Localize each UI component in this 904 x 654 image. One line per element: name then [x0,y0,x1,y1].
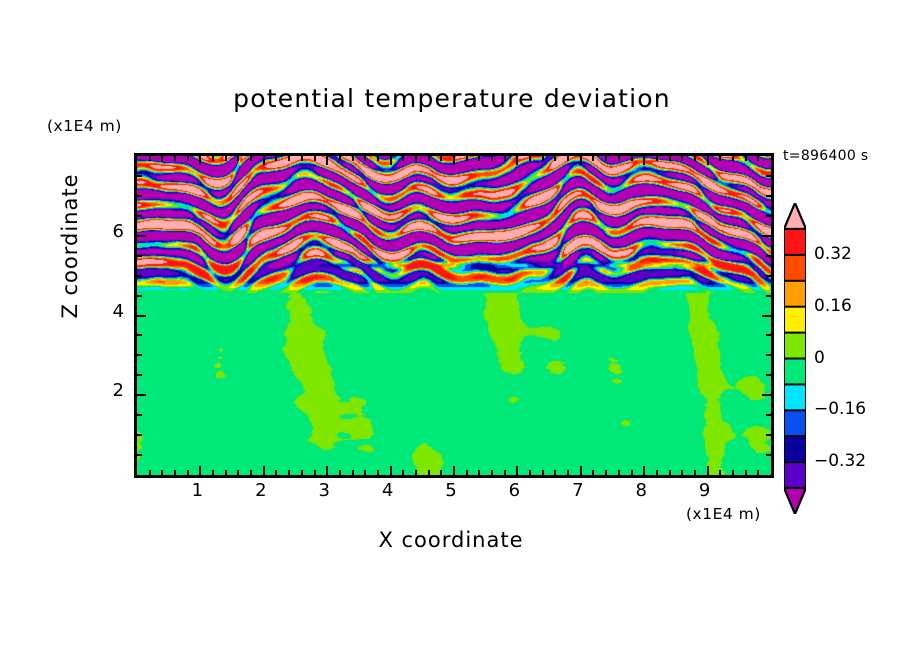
tick-mark [766,334,771,336]
tick-mark [618,470,620,475]
tick-mark [390,466,392,475]
tick-mark [199,156,201,165]
tick-mark [580,156,582,165]
tick-mark [567,470,569,475]
tick-mark [529,156,531,161]
tick-mark [529,470,531,475]
x-axis-title: X coordinate [134,528,768,552]
x-tick-label: 2 [241,480,281,501]
tick-mark [732,470,734,475]
tick-mark [643,156,645,165]
colorbar-tick-label: 0.16 [814,296,852,316]
x-tick-label: 8 [621,480,661,501]
y-tick-label: 6 [84,221,124,242]
tick-mark [656,156,658,161]
tick-mark [137,315,146,317]
tick-mark [757,470,759,475]
tick-mark [137,354,142,356]
tick-mark [212,156,214,161]
tick-mark [592,156,594,161]
tick-mark [137,195,142,197]
colorbar-tick-label: 0 [814,348,825,368]
tick-mark [377,470,379,475]
tick-mark [288,470,290,475]
tick-mark [453,156,455,165]
tick-mark [137,255,142,257]
tick-mark [757,156,759,161]
tick-mark [766,195,771,197]
tick-mark [694,470,696,475]
tick-mark [766,275,771,277]
tick-mark [732,156,734,161]
tick-mark [766,414,771,416]
x-tick-label: 5 [431,480,471,501]
tick-mark [275,470,277,475]
tick-mark [618,156,620,161]
tick-mark [762,315,771,317]
tick-mark [516,466,518,475]
x-tick-label: 3 [304,480,344,501]
tick-mark [288,156,290,161]
x-tick-label: 1 [177,480,217,501]
tick-mark [225,470,227,475]
tick-mark [137,175,142,177]
tick-mark [352,156,354,161]
tick-mark [326,466,328,475]
tick-mark [364,156,366,161]
tick-mark [174,470,176,475]
tick-mark [766,255,771,257]
tick-mark [719,156,721,161]
tick-mark [542,470,544,475]
tick-mark [766,374,771,376]
tick-mark [745,470,747,475]
tick-mark [766,175,771,177]
tick-mark [694,156,696,161]
tick-mark [174,156,176,161]
tick-mark [137,275,142,277]
tick-mark [631,470,633,475]
tick-mark [161,470,163,475]
tick-mark [187,470,189,475]
tick-mark [364,470,366,475]
tick-mark [250,156,252,161]
tick-mark [554,156,556,161]
tick-mark [592,470,594,475]
tick-mark [643,466,645,475]
colorbar-swatches [784,203,806,514]
tick-mark [161,156,163,161]
tick-mark [766,295,771,297]
tick-mark [631,156,633,161]
tick-mark [554,470,556,475]
contour-plot-area [134,153,774,478]
tick-mark [415,470,417,475]
tick-mark [301,156,303,161]
tick-mark [466,470,468,475]
tick-mark [137,434,142,436]
tick-mark [352,470,354,475]
tick-mark [580,466,582,475]
tick-mark [187,156,189,161]
tick-mark [762,394,771,396]
tick-mark [762,235,771,237]
x-tick-label: 9 [685,480,725,501]
tick-mark [428,156,430,161]
colorbar [784,203,806,514]
tick-mark [453,466,455,475]
tick-mark [225,156,227,161]
tick-mark [237,470,239,475]
tick-mark [237,156,239,161]
x-tick-label: 4 [368,480,408,501]
tick-mark [516,156,518,165]
tick-mark [466,156,468,161]
tick-mark [250,470,252,475]
tick-mark [766,354,771,356]
tick-mark [339,156,341,161]
temperature-deviation-field [137,156,771,475]
tick-mark [326,156,328,165]
tick-mark [766,434,771,436]
tick-mark [428,470,430,475]
y-tick-label: 4 [84,301,124,322]
tick-mark [766,454,771,456]
figure-canvas: potential temperature deviation (x1E4 m)… [0,0,904,654]
tick-mark [137,374,142,376]
tick-mark [440,470,442,475]
tick-mark [212,470,214,475]
tick-mark [149,470,151,475]
timestamp-label: t=896400 s [783,148,868,164]
x-axis-unit-label: (x1E4 m) [686,505,761,523]
y-axis-title: Z coordinate [58,136,82,356]
tick-mark [656,470,658,475]
tick-mark [478,470,480,475]
tick-mark [377,156,379,161]
tick-mark [605,470,607,475]
tick-mark [137,215,142,217]
tick-mark [263,156,265,165]
tick-mark [301,470,303,475]
page-title: potential temperature deviation [0,84,904,113]
colorbar-tick-label: 0.32 [814,244,852,264]
tick-mark [567,156,569,161]
tick-mark [491,470,493,475]
tick-mark [390,156,392,165]
tick-mark [491,156,493,161]
tick-mark [681,156,683,161]
tick-mark [314,470,316,475]
tick-mark [440,156,442,161]
tick-mark [542,156,544,161]
tick-mark [605,156,607,161]
z-axis-unit-label: (x1E4 m) [47,117,122,135]
tick-mark [707,466,709,475]
tick-mark [745,156,747,161]
colorbar-tick-label: −0.32 [814,451,866,471]
tick-mark [199,466,201,475]
tick-mark [137,334,142,336]
tick-mark [275,156,277,161]
tick-mark [137,295,142,297]
tick-mark [263,466,265,475]
tick-mark [766,215,771,217]
tick-mark [719,470,721,475]
colorbar-tick-label: −0.16 [814,399,866,419]
y-tick-label: 2 [84,380,124,401]
x-tick-label: 6 [494,480,534,501]
tick-mark [314,156,316,161]
tick-mark [149,156,151,161]
tick-mark [669,156,671,161]
tick-mark [504,156,506,161]
tick-mark [137,454,142,456]
x-tick-label: 7 [558,480,598,501]
tick-mark [402,470,404,475]
tick-mark [137,394,146,396]
tick-mark [415,156,417,161]
tick-mark [402,156,404,161]
tick-mark [339,470,341,475]
tick-mark [478,156,480,161]
tick-mark [669,470,671,475]
tick-mark [504,470,506,475]
tick-mark [681,470,683,475]
tick-mark [707,156,709,165]
tick-mark [137,235,146,237]
tick-mark [137,414,142,416]
